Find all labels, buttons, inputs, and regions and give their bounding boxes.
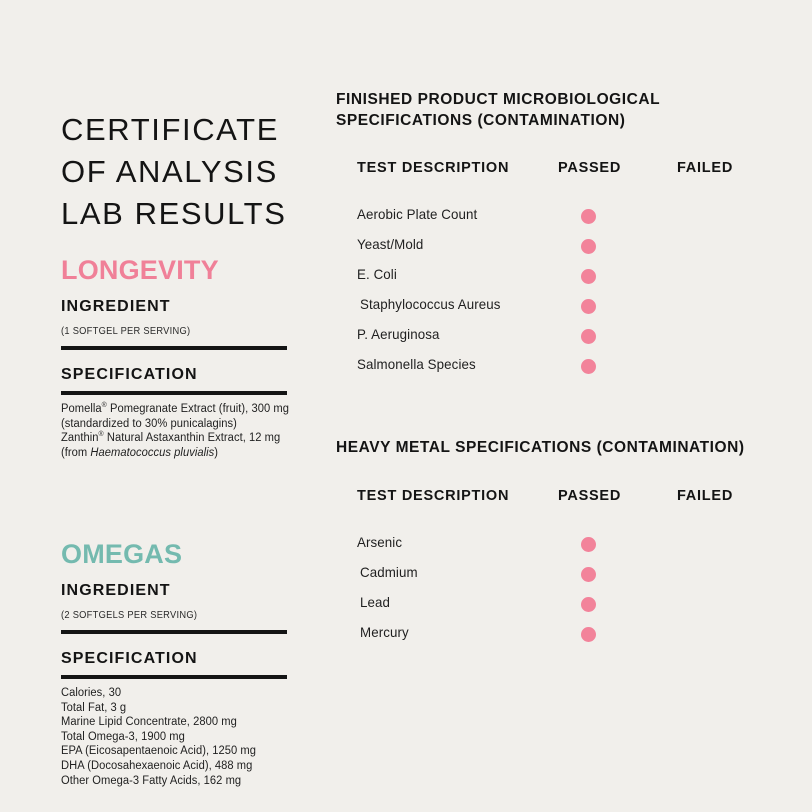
column-header-description: TEST DESCRIPTION [357,488,509,504]
passed-indicator [581,567,596,582]
status-dot-icon [581,627,596,642]
status-dot-icon [581,269,596,284]
table-row: Yeast/Mold [336,236,786,266]
test-name: Yeast/Mold [357,236,423,254]
passed-indicator [581,597,596,612]
test-name: Arsenic [357,534,402,552]
table-row: Arsenic [336,534,786,564]
table-header-microbiological: TEST DESCRIPTION PASSED FAILED [336,160,786,182]
section-heading-microbiological: FINISHED PRODUCT MICROBIOLOGICAL SPECIFI… [336,89,786,131]
passed-indicator [581,269,596,284]
passed-indicator [581,239,596,254]
serving-note-longevity: (1 SOFTGEL PER SERVING) [61,325,271,338]
table-row: Salmonella Species [336,356,786,386]
passed-indicator [581,299,596,314]
test-name: Cadmium [360,564,418,582]
specification-line: (from Haematococcus pluvialis) [61,446,280,461]
test-name: Salmonella Species [357,356,476,374]
product-name-omegas: OMEGAS [61,539,287,569]
status-dot-icon [581,329,596,344]
status-dot-icon [581,299,596,314]
test-name: Lead [360,594,390,612]
specification-line: Total Fat, 3 g [61,701,280,716]
column-header-description: TEST DESCRIPTION [357,160,509,176]
passed-indicator [581,209,596,224]
status-dot-icon [581,537,596,552]
test-name: Staphylococcus Aureus [360,296,501,314]
heavy-metal-section: HEAVY METAL SPECIFICATIONS (CONTAMINATIO… [336,437,786,654]
test-name: P. Aeruginosa [357,326,440,344]
specification-line: (standardized to 30% punicalagins) [61,417,280,432]
column-header-failed: FAILED [677,160,733,176]
table-row: Mercury [336,624,786,654]
page-title: CERTIFICATE OF ANALYSIS LAB RESULTS [61,109,287,235]
table-header-heavy-metal: TEST DESCRIPTION PASSED FAILED [336,488,786,510]
status-dot-icon [581,209,596,224]
divider-rule [61,391,287,395]
table-row: Aerobic Plate Count [336,206,786,236]
status-dot-icon [581,239,596,254]
table-row: Staphylococcus Aureus [336,296,786,326]
column-header-passed: PASSED [558,488,621,504]
passed-indicator [581,359,596,374]
table-body-heavy-metal: ArsenicCadmiumLeadMercury [336,534,786,654]
specification-line: EPA (Eicosapentaenoic Acid), 1250 mg [61,744,280,759]
test-name: Aerobic Plate Count [357,206,477,224]
divider-rule [61,675,287,679]
passed-indicator [581,537,596,552]
section-heading-heavy-metal: HEAVY METAL SPECIFICATIONS (CONTAMINATIO… [336,437,786,458]
passed-indicator [581,329,596,344]
specification-line: Marine Lipid Concentrate, 2800 mg [61,715,280,730]
specification-label-longevity: SPECIFICATION [61,365,287,385]
specification-line: Calories, 30 [61,686,280,701]
table-row: P. Aeruginosa [336,326,786,356]
specification-line: Pomella® Pomegranate Extract (fruit), 30… [61,402,280,417]
specification-list-longevity: Pomella® Pomegranate Extract (fruit), 30… [61,402,280,460]
ingredient-label-longevity: INGREDIENT [61,297,287,317]
product-block-longevity: LONGEVITY INGREDIENT (1 SOFTGEL PER SERV… [61,255,287,460]
status-dot-icon [581,597,596,612]
divider-rule [61,346,287,350]
specification-list-omegas: Calories, 30Total Fat, 3 gMarine Lipid C… [61,686,280,788]
test-name: Mercury [360,624,409,642]
table-body-microbiological: Aerobic Plate CountYeast/MoldE. ColiStap… [336,206,786,386]
table-row: Lead [336,594,786,624]
ingredient-label-omegas: INGREDIENT [61,581,287,601]
table-row: Cadmium [336,564,786,594]
table-row: E. Coli [336,266,786,296]
column-header-passed: PASSED [558,160,621,176]
specification-line: DHA (Docosahexaenoic Acid), 488 mg [61,759,280,774]
product-block-omegas: OMEGAS INGREDIENT (2 SOFTGELS PER SERVIN… [61,539,287,788]
divider-rule [61,630,287,634]
status-dot-icon [581,567,596,582]
microbiological-section: FINISHED PRODUCT MICROBIOLOGICAL SPECIFI… [336,89,786,386]
passed-indicator [581,627,596,642]
specification-line: Total Omega-3, 1900 mg [61,730,280,745]
test-name: E. Coli [357,266,397,284]
product-name-longevity: LONGEVITY [61,255,287,285]
column-header-failed: FAILED [677,488,733,504]
specification-label-omegas: SPECIFICATION [61,649,287,669]
specification-line: Zanthin® Natural Astaxanthin Extract, 12… [61,431,280,446]
status-dot-icon [581,359,596,374]
serving-note-omegas: (2 SOFTGELS PER SERVING) [61,609,271,622]
specification-line: Other Omega-3 Fatty Acids, 162 mg [61,774,280,789]
